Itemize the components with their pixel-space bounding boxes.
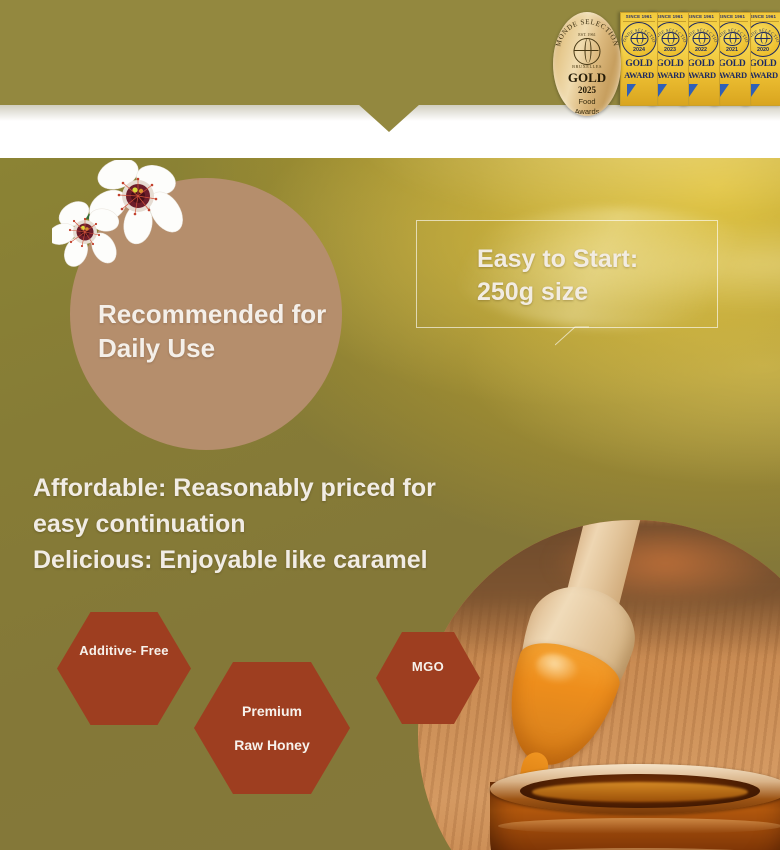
medal-category-line-1: Food <box>553 97 621 107</box>
medal-year-label: 2025 <box>553 85 621 95</box>
feature-hex-label: MGO <box>412 658 444 676</box>
feature-hex-premium-raw-honey: Premium Raw Honey <box>194 662 350 794</box>
medal-city-label: BRUXELLES <box>553 64 621 69</box>
medal-grade-label: GOLD <box>553 70 621 86</box>
ribbon-icon <box>720 84 729 97</box>
feature-hex-additive-free: Additive- Free <box>57 612 191 725</box>
globe-icon <box>723 32 741 46</box>
medal-category-line-2: Awards <box>553 107 621 116</box>
award-label-2024: SINCE 1961 MONDE SELECTION 2024 GOLD AWA… <box>620 12 658 106</box>
easy-to-start-callout: Easy to Start: 250g size <box>416 220 718 328</box>
globe-icon <box>692 32 710 46</box>
ribbon-icon <box>658 84 667 97</box>
award-label-since-2024: SINCE 1961 <box>621 14 657 19</box>
honey-jar-image <box>490 760 780 850</box>
globe-icon <box>754 32 772 46</box>
award-year-2021: 2021 <box>716 47 749 53</box>
ribbon-icon <box>689 84 698 97</box>
benefits-copy: Affordable: Reasonably priced for easy c… <box>33 470 593 578</box>
easy-to-start-label: Easy to Start: 250g size <box>477 243 638 309</box>
main-panel: Recommended for Daily Use <box>0 158 780 850</box>
award-year-2020: 2020 <box>747 47 780 53</box>
medal-category-label: Food Awards <box>553 97 621 116</box>
award-gold-text-2024: GOLD <box>621 59 657 69</box>
ribbon-icon <box>627 84 636 97</box>
monde-selection-medal-icon: MONDE SELECTION EST. 1961 BRUXELLES GOLD… <box>553 12 621 116</box>
ribbon-icon <box>751 84 760 97</box>
globe-icon <box>630 32 648 46</box>
feature-hex-label: Additive- Free <box>79 642 168 660</box>
award-year-2022: 2022 <box>685 47 718 53</box>
award-seal-icon-2024: MONDE SELECTION 2024 <box>622 22 657 57</box>
award-year-2023: 2023 <box>654 47 687 53</box>
feature-hex-label: Premium Raw Honey <box>234 694 309 762</box>
globe-icon <box>574 38 601 65</box>
manuka-flower-decor <box>52 160 212 275</box>
jar-ring <box>498 818 780 834</box>
award-award-text-2024: AWARD <box>621 70 657 80</box>
recommended-badge-label: Recommended for Daily Use <box>70 263 342 365</box>
award-year-label-stack: SINCE 1961 MONDE SELECTION 2020 GOLD AWA… <box>618 12 780 104</box>
medal-established-label: EST. 1961 <box>553 32 621 37</box>
header-band-tail-icon <box>358 104 420 132</box>
honey-product-poster: Monde Selection From 2020 to 2025 "Gold … <box>0 0 780 850</box>
honey-surface <box>532 782 748 802</box>
globe-icon <box>661 32 679 46</box>
award-year-2024: 2024 <box>623 47 656 53</box>
callout-tail-icon <box>555 325 591 347</box>
